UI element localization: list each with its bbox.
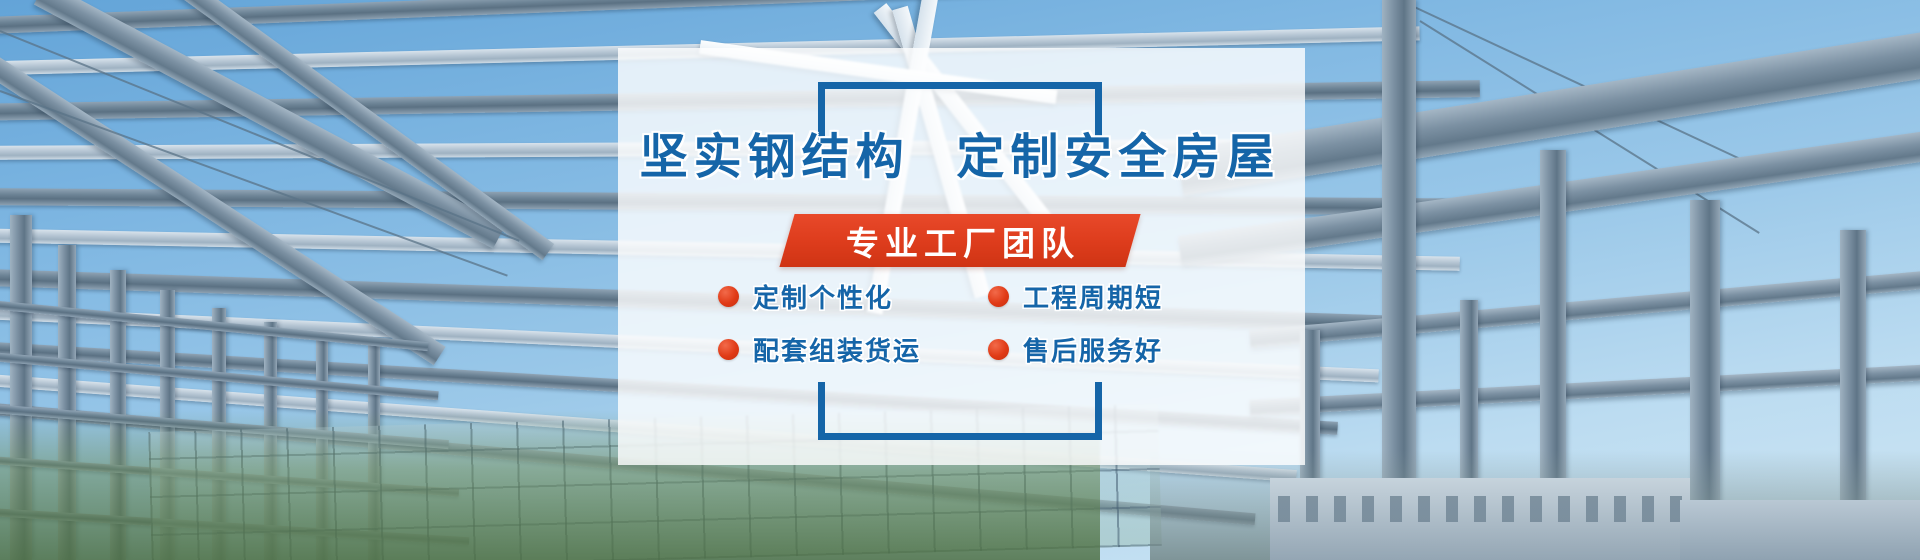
red-dot-icon <box>718 339 739 360</box>
hero-banner: 坚实钢结构 定制安全房屋 专业工厂团队 定制个性化 工程周期短 配套组装货运 售… <box>0 0 1920 560</box>
feature-list: 定制个性化 工程周期短 配套组装货运 售后服务好 <box>718 278 1238 368</box>
feature-label: 定制个性化 <box>753 278 893 315</box>
bracket-bottom-bar <box>818 433 1102 440</box>
red-dot-icon <box>988 339 1009 360</box>
feature-item: 定制个性化 <box>718 278 968 315</box>
bracket-bottom-right-stem <box>1095 382 1102 440</box>
feature-item: 售后服务好 <box>988 331 1238 368</box>
headline-part-2: 定制安全房屋 <box>956 129 1280 185</box>
distant-building <box>1270 478 1690 560</box>
feature-label: 工程周期短 <box>1023 278 1163 315</box>
sub-banner-label: 专业工厂团队 <box>787 214 1133 267</box>
feature-label: 售后服务好 <box>1023 331 1163 368</box>
bracket-top-bar <box>818 82 1102 89</box>
headline-spacer <box>910 129 957 185</box>
headline-part-1: 坚实钢结构 <box>640 129 910 185</box>
feature-label: 配套组装货运 <box>753 331 921 368</box>
feature-item: 配套组装货运 <box>718 331 968 368</box>
bracket-bottom-left-stem <box>818 382 825 440</box>
feature-item: 工程周期短 <box>988 278 1238 315</box>
distant-building <box>1680 500 1920 560</box>
red-dot-icon <box>988 286 1009 307</box>
decorative-bracket-bottom <box>818 382 1102 440</box>
banner-headline: 坚实钢结构 定制安全房屋 <box>0 117 1920 187</box>
red-dot-icon <box>718 286 739 307</box>
